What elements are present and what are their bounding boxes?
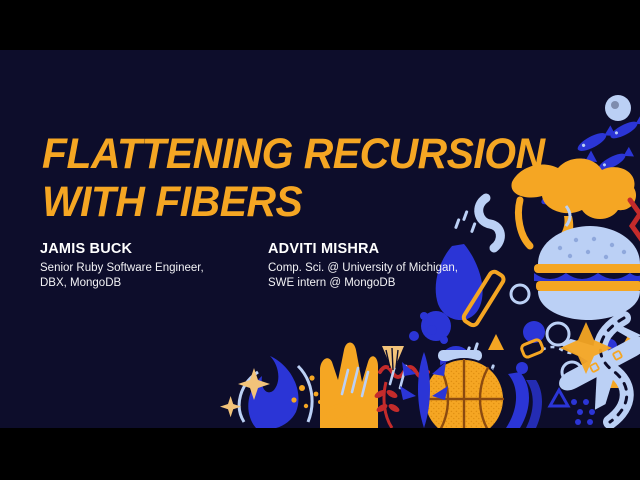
speaker-name: ADVITI MISHRA xyxy=(268,240,496,258)
speaker-role-line-2: DBX, MongoDB xyxy=(40,276,268,291)
triangle-outline-shape xyxy=(550,390,568,406)
burger-icon xyxy=(534,226,640,320)
speaker-adviti-mishra: ADVITI MISHRA Comp. Sci. @ University of… xyxy=(268,240,496,291)
speakers-list: JAMIS BUCK Senior Ruby Software Engineer… xyxy=(40,240,496,291)
speaker-jamis-buck: JAMIS BUCK Senior Ruby Software Engineer… xyxy=(40,240,268,291)
red-zigzag-shape xyxy=(630,200,640,240)
flame-icon xyxy=(320,343,378,429)
title-line-2: WITH FIBERS xyxy=(42,178,545,226)
star-burst-icon xyxy=(560,322,612,374)
speaker-role: Comp. Sci. @ University of Michigan, SWE… xyxy=(268,261,496,291)
fern-icon xyxy=(400,312,448,428)
slide-canvas: FLATTENING RECURSION WITH FIBERS JAMIS B… xyxy=(0,50,640,428)
blue-flame-icon xyxy=(239,356,312,428)
speaker-role-line-2: SWE intern @ MongoDB xyxy=(268,276,496,291)
rain-lines-shape xyxy=(342,362,406,396)
outlined-rect-shapes xyxy=(326,339,543,423)
page-title: FLATTENING RECURSION WITH FIBERS xyxy=(42,130,571,226)
decorative-artwork xyxy=(220,50,640,428)
dot-grid-shape xyxy=(571,399,595,425)
airplane-icon xyxy=(542,307,640,419)
red-wave-shape xyxy=(380,367,428,377)
letterbox-bottom xyxy=(0,428,640,480)
basketball-icon xyxy=(424,350,518,428)
ribbon-shape xyxy=(506,372,542,428)
speaker-role-line-1: Senior Ruby Software Engineer, xyxy=(40,261,268,276)
confetti-shapes xyxy=(421,206,640,388)
speaker-role-line-1: Comp. Sci. @ University of Michigan, xyxy=(268,261,496,276)
dot-cluster-shape xyxy=(291,375,326,408)
letterbox-top xyxy=(0,0,640,50)
speaker-name: JAMIS BUCK xyxy=(40,240,268,258)
title-line-1: FLATTENING RECURSION xyxy=(42,130,545,178)
sparkle-icon xyxy=(220,368,270,417)
presentation-slide: FLATTENING RECURSION WITH FIBERS JAMIS B… xyxy=(0,0,640,480)
leaf-icon xyxy=(373,346,404,428)
speaker-role: Senior Ruby Software Engineer, DBX, Mong… xyxy=(40,261,268,291)
winding-road-shape xyxy=(600,318,626,422)
